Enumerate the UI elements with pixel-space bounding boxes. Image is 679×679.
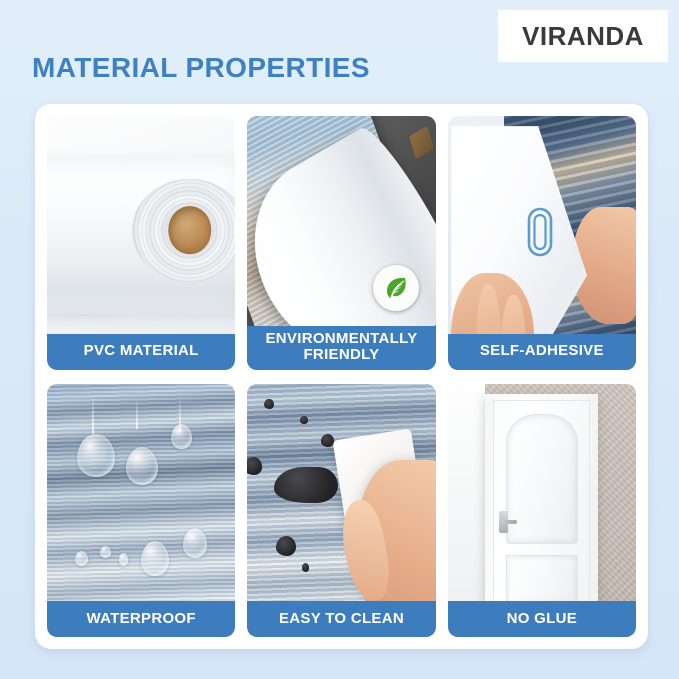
eco-leaf-badge [373,265,419,311]
water-drop-tail [92,394,94,435]
feature-label-waterproof: WATERPROOF [47,601,235,637]
brand-name: VIRANDA [522,21,644,52]
baseboard-right [448,384,486,620]
water-drop [77,434,115,477]
feature-grid: PVC MATERIAL ENVIRONMENTALLY [47,116,636,637]
feature-label-environmentally-friendly: ENVIRONMENTALLY FRIENDLY [247,326,435,370]
feature-label-no-glue: NO GLUE [448,601,636,637]
stain-mark [276,536,297,556]
water-drop [126,447,158,485]
no-glue-image [448,384,636,638]
feature-label-self-adhesive: SELF-ADHESIVE [448,334,636,370]
feature-panel: PVC MATERIAL ENVIRONMENTALLY [35,104,648,649]
stain-mark [321,434,334,447]
door-panel-top [506,414,578,545]
stain-mark [300,416,308,424]
stain-mark [247,457,262,475]
pvc-roll-end [132,179,235,283]
stain-mark [274,467,338,502]
water-drop [183,528,207,558]
water-drop-tail [136,399,138,429]
feature-card-self-adhesive[interactable]: SELF-ADHESIVE [448,116,636,370]
waterproof-image [47,384,235,638]
water-drop [171,424,192,449]
feature-card-environmentally-friendly[interactable]: ENVIRONMENTALLY FRIENDLY [247,116,435,370]
pvc-material-image [47,116,235,370]
door-leaf [493,400,590,609]
feature-card-easy-to-clean[interactable]: EASY TO CLEAN [247,384,435,638]
leaf-icon [382,274,410,302]
water-drop [75,551,88,566]
stain-mark [264,399,273,409]
pvc-roll-body [47,157,235,314]
paperclip-icon [525,205,555,259]
page-title: MATERIAL PROPERTIES [32,52,370,84]
water-drop [119,553,128,566]
feature-card-waterproof[interactable]: WATERPROOF [47,384,235,638]
brand-badge: VIRANDA [498,10,668,62]
feature-label-easy-to-clean: EASY TO CLEAN [247,601,435,637]
feature-card-no-glue[interactable]: NO GLUE [448,384,636,638]
feature-card-pvc-material[interactable]: PVC MATERIAL [47,116,235,370]
door-handle [499,511,508,533]
door-panel-bottom [506,555,578,605]
pvc-cardboard-core [168,207,211,255]
self-adhesive-image [448,116,636,370]
waterproof-background [47,384,235,638]
easy-to-clean-image [247,384,435,638]
water-drop [100,546,111,559]
door-frame [485,394,598,612]
feature-label-pvc-material: PVC MATERIAL [47,334,235,370]
